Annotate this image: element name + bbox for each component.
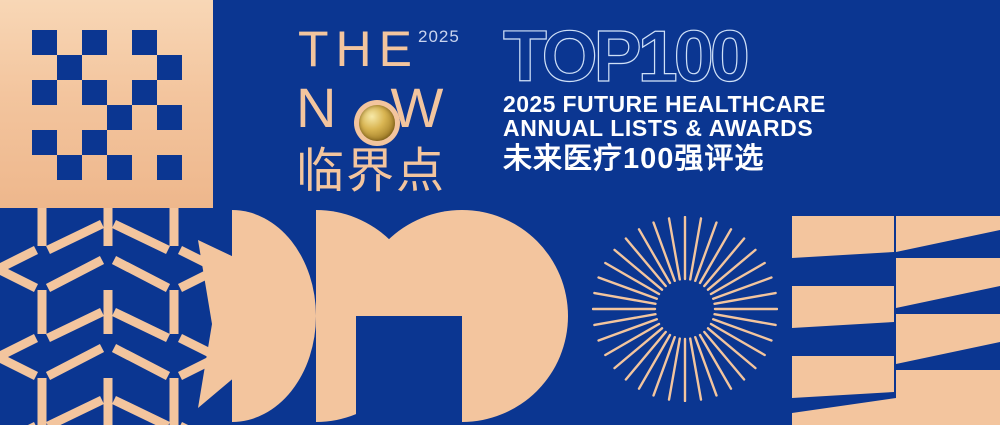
checker-cell — [107, 155, 132, 180]
sunburst-icon — [592, 216, 778, 402]
checker-cell — [82, 155, 107, 180]
checker-cell — [57, 155, 82, 180]
checker-cell — [157, 55, 182, 80]
checker-cell — [132, 130, 157, 155]
checker-cell — [57, 130, 82, 155]
title-block: TOP100 2025 FUTURE HEALTHCARE ANNUAL LIS… — [503, 22, 853, 175]
checker-cell — [157, 105, 182, 130]
checker-cell — [107, 105, 132, 130]
checker-cell — [32, 55, 57, 80]
sunburst-panel — [592, 216, 778, 402]
golden-orb-icon — [359, 105, 395, 141]
diagonal-stripes-panel — [786, 208, 1000, 425]
title-english-line1: 2025 FUTURE HEALTHCARE — [503, 92, 853, 116]
top100-headline: TOP100 — [503, 22, 853, 92]
semicircle-left — [232, 210, 316, 422]
checker-cell — [82, 30, 107, 55]
checker-cell — [107, 55, 132, 80]
checker-cell — [157, 30, 182, 55]
logo-chinese-text: 临界点 — [296, 148, 446, 196]
checker-cell — [32, 105, 57, 130]
logo-now-n: N — [296, 76, 340, 139]
checker-cell — [82, 55, 107, 80]
top100-award-banner: THE 2025 NW 临界点 TOP100 2025 FUTURE HEALT… — [0, 0, 1000, 425]
checker-cell — [132, 155, 157, 180]
checker-cell — [32, 30, 57, 55]
logo-year-2025: 2025 — [418, 27, 460, 47]
checker-cell — [82, 130, 107, 155]
checker-cell — [57, 80, 82, 105]
logo-the-text: THE — [298, 24, 419, 74]
hex-lattice-panel — [0, 208, 216, 425]
checker-cell — [32, 130, 57, 155]
checker-cell — [157, 80, 182, 105]
title-english-line2: ANNUAL LISTS & AWARDS — [503, 116, 853, 140]
checker-cell — [32, 155, 57, 180]
checker-cell — [57, 105, 82, 130]
checker-cell — [157, 155, 182, 180]
hex-lattice-icon — [0, 208, 216, 425]
checker-cell — [132, 80, 157, 105]
checker-cell — [107, 130, 132, 155]
circle-shapes-group — [216, 208, 596, 425]
checker-cell — [132, 30, 157, 55]
diagonal-stripes-icon — [786, 208, 1000, 425]
checker-cell — [132, 105, 157, 130]
checker-cell — [107, 80, 132, 105]
title-chinese-line: 未来医疗100强评选 — [503, 143, 853, 175]
checker-cell — [107, 30, 132, 55]
notch-cutout — [356, 316, 462, 422]
checker-cell — [82, 80, 107, 105]
checker-cell — [132, 55, 157, 80]
golden-orb-ring — [354, 100, 400, 146]
checker-cell — [57, 55, 82, 80]
checker-cell — [57, 30, 82, 55]
checkerboard-grid — [32, 30, 182, 180]
checker-cell — [32, 80, 57, 105]
checker-cell — [82, 105, 107, 130]
the-now-logo: THE 2025 NW 临界点 — [296, 24, 486, 189]
checker-cell — [157, 130, 182, 155]
checkerboard-panel — [0, 0, 213, 208]
